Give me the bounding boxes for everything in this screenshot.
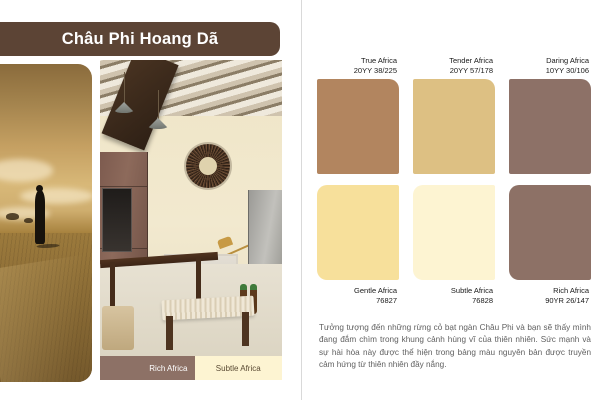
- bench-leg: [166, 316, 173, 350]
- swatch-code: 76828: [413, 296, 493, 306]
- cloud-shape: [20, 188, 92, 204]
- photo-color-tabs: Rich Africa Subtle Africa: [100, 356, 282, 380]
- interior-dining-room-photo: [100, 60, 282, 356]
- acacia-tree: [24, 218, 33, 223]
- standing-figure-silhouette: [35, 190, 45, 244]
- pendant-lamp-cord: [158, 90, 159, 120]
- swatch-name: Daring Africa: [509, 56, 589, 66]
- paint-palette-page: Châu Phi Hoang Dã: [0, 0, 600, 400]
- table-leg: [110, 262, 115, 310]
- palette-row-top: True Africa 20YY 38/225 Tender Africa 20…: [317, 56, 589, 174]
- swatch-subtle-africa[interactable]: Subtle Africa 76828: [413, 185, 495, 306]
- swatch-code: 20YY 57/178: [413, 66, 493, 76]
- swatch-true-africa[interactable]: True Africa 20YY 38/225: [317, 56, 399, 174]
- swatch-gentle-africa[interactable]: Gentle Africa 76827: [317, 185, 399, 306]
- palette-row-bottom: Gentle Africa 76827 Subtle Africa 76828 …: [317, 185, 589, 306]
- swatch-daring-africa[interactable]: Daring Africa 10YY 30/106: [509, 56, 591, 174]
- swatch-label: Gentle Africa 76827: [317, 283, 399, 306]
- photo-tab-label: Rich Africa: [149, 364, 187, 373]
- swatch-name: Tender Africa: [413, 56, 493, 66]
- savanna-sunset-photo: [0, 64, 92, 382]
- dirt-path: [0, 253, 92, 382]
- cloud-shape: [0, 159, 53, 181]
- swatch-tender-africa[interactable]: Tender Africa 20YY 57/178: [413, 56, 495, 174]
- swatch-code: 76827: [317, 296, 397, 306]
- bench-leg: [242, 312, 249, 346]
- table-leg: [196, 258, 201, 304]
- swatch-label: Daring Africa 10YY 30/106: [509, 56, 591, 76]
- pendant-lamp-cord: [124, 72, 125, 104]
- swatch-chip[interactable]: [413, 185, 495, 280]
- swatch-label: Rich Africa 90YR 26/147: [509, 283, 591, 306]
- swatch-name: Gentle Africa: [317, 286, 397, 296]
- swatch-code: 10YY 30/106: [509, 66, 589, 76]
- cabinet-seam: [100, 186, 147, 187]
- swatch-code: 90YR 26/147: [509, 296, 589, 306]
- swatch-chip[interactable]: [317, 185, 399, 280]
- photo-tab-rich-africa: Rich Africa: [100, 356, 195, 380]
- feather-wall-decor: [186, 144, 230, 188]
- photo-tab-subtle-africa: Subtle Africa: [195, 356, 283, 380]
- swatch-chip[interactable]: [317, 79, 399, 174]
- photo-tab-label: Subtle Africa: [216, 364, 261, 373]
- swatch-chip[interactable]: [509, 79, 591, 174]
- swatch-name: Subtle Africa: [413, 286, 493, 296]
- built-in-oven: [102, 188, 132, 252]
- swatch-chip[interactable]: [413, 79, 495, 174]
- right-panel: True Africa 20YY 38/225 Tender Africa 20…: [305, 0, 600, 400]
- left-panel: Châu Phi Hoang Dã: [0, 0, 300, 400]
- swatch-code: 20YY 38/225: [317, 66, 397, 76]
- acacia-tree: [6, 213, 19, 220]
- swatch-name: True Africa: [317, 56, 397, 66]
- page-title-bar: Châu Phi Hoang Dã: [0, 22, 280, 56]
- swatch-label: True Africa 20YY 38/225: [317, 56, 399, 76]
- woven-basket: [102, 306, 134, 350]
- page-title: Châu Phi Hoang Dã: [62, 30, 219, 49]
- swatch-chip[interactable]: [509, 185, 591, 280]
- swatch-label: Tender Africa 20YY 57/178: [413, 56, 495, 76]
- lamp-head: [217, 236, 233, 249]
- panel-divider: [301, 0, 302, 400]
- swatch-label: Subtle Africa 76828: [413, 283, 495, 306]
- swatch-rich-africa[interactable]: Rich Africa 90YR 26/147: [509, 185, 591, 306]
- palette-description: Tưởng tượng đến những rừng cỏ bạt ngàn C…: [319, 322, 591, 371]
- swatch-name: Rich Africa: [509, 286, 589, 296]
